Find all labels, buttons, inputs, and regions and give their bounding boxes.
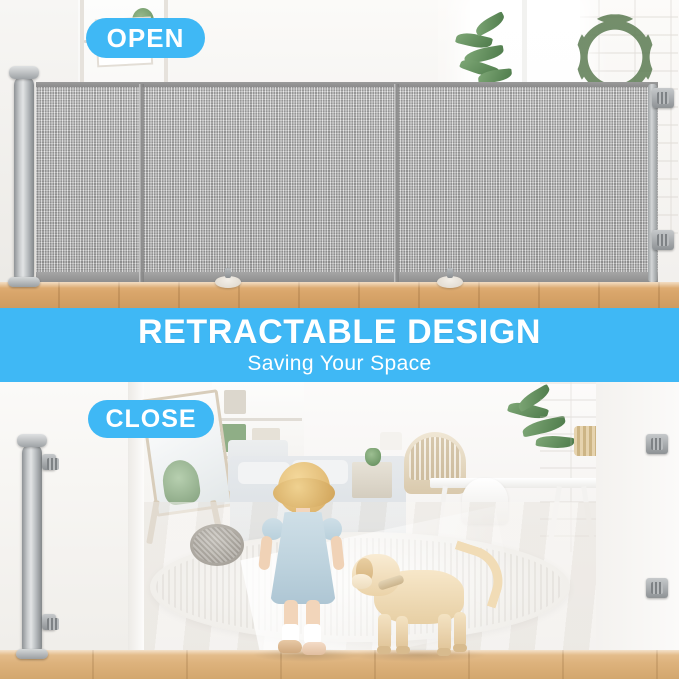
post-base: [8, 277, 40, 287]
retraction-housing-post-closed: [22, 444, 42, 656]
post-cap: [9, 66, 39, 79]
floor-anchor: [437, 276, 463, 288]
banner-subhead: Saving Your Space: [247, 352, 431, 376]
wall-right-close: [596, 382, 679, 650]
wall-mount-bracket: [42, 454, 56, 470]
post-base: [16, 649, 48, 659]
knit-pouf: [190, 524, 244, 566]
potted-plant: [452, 8, 522, 92]
table-lamp: [380, 432, 402, 450]
toddler: [258, 462, 346, 658]
retraction-housing-post: [14, 76, 34, 284]
gate-panel-seam: [139, 84, 144, 282]
gate-top-rail: [36, 82, 658, 87]
gate-bottom-rail: [36, 272, 658, 282]
post-cap: [17, 434, 47, 447]
dog-snout: [352, 574, 372, 589]
gate-panel-seam: [394, 84, 399, 282]
badge-open: OPEN: [86, 18, 205, 58]
wall-mount-bracket: [646, 578, 668, 598]
small-plant: [365, 448, 381, 466]
wood-floor-strip-top: [0, 282, 679, 308]
badge-close: CLOSE: [88, 400, 214, 438]
panel-open: OPEN: [0, 0, 679, 308]
child-hair: [278, 462, 330, 514]
wall-mount-bracket: [652, 88, 674, 108]
nightstand: [352, 462, 392, 498]
wall-mount-bracket: [652, 230, 674, 250]
dining-table: [430, 478, 600, 488]
puppy: [352, 548, 502, 660]
banner: RETRACTABLE DESIGN Saving Your Space: [0, 308, 679, 382]
retractable-gate-mesh: [36, 82, 658, 282]
wall-mount-bracket: [42, 614, 56, 630]
banner-headline: RETRACTABLE DESIGN: [138, 314, 541, 350]
gate-end-rail: [648, 84, 657, 282]
product-image: OPEN RETRACTABLE DESIGN Saving Your Spac…: [0, 0, 679, 679]
wall-mount-bracket: [646, 434, 668, 454]
floor-anchor: [215, 276, 241, 288]
